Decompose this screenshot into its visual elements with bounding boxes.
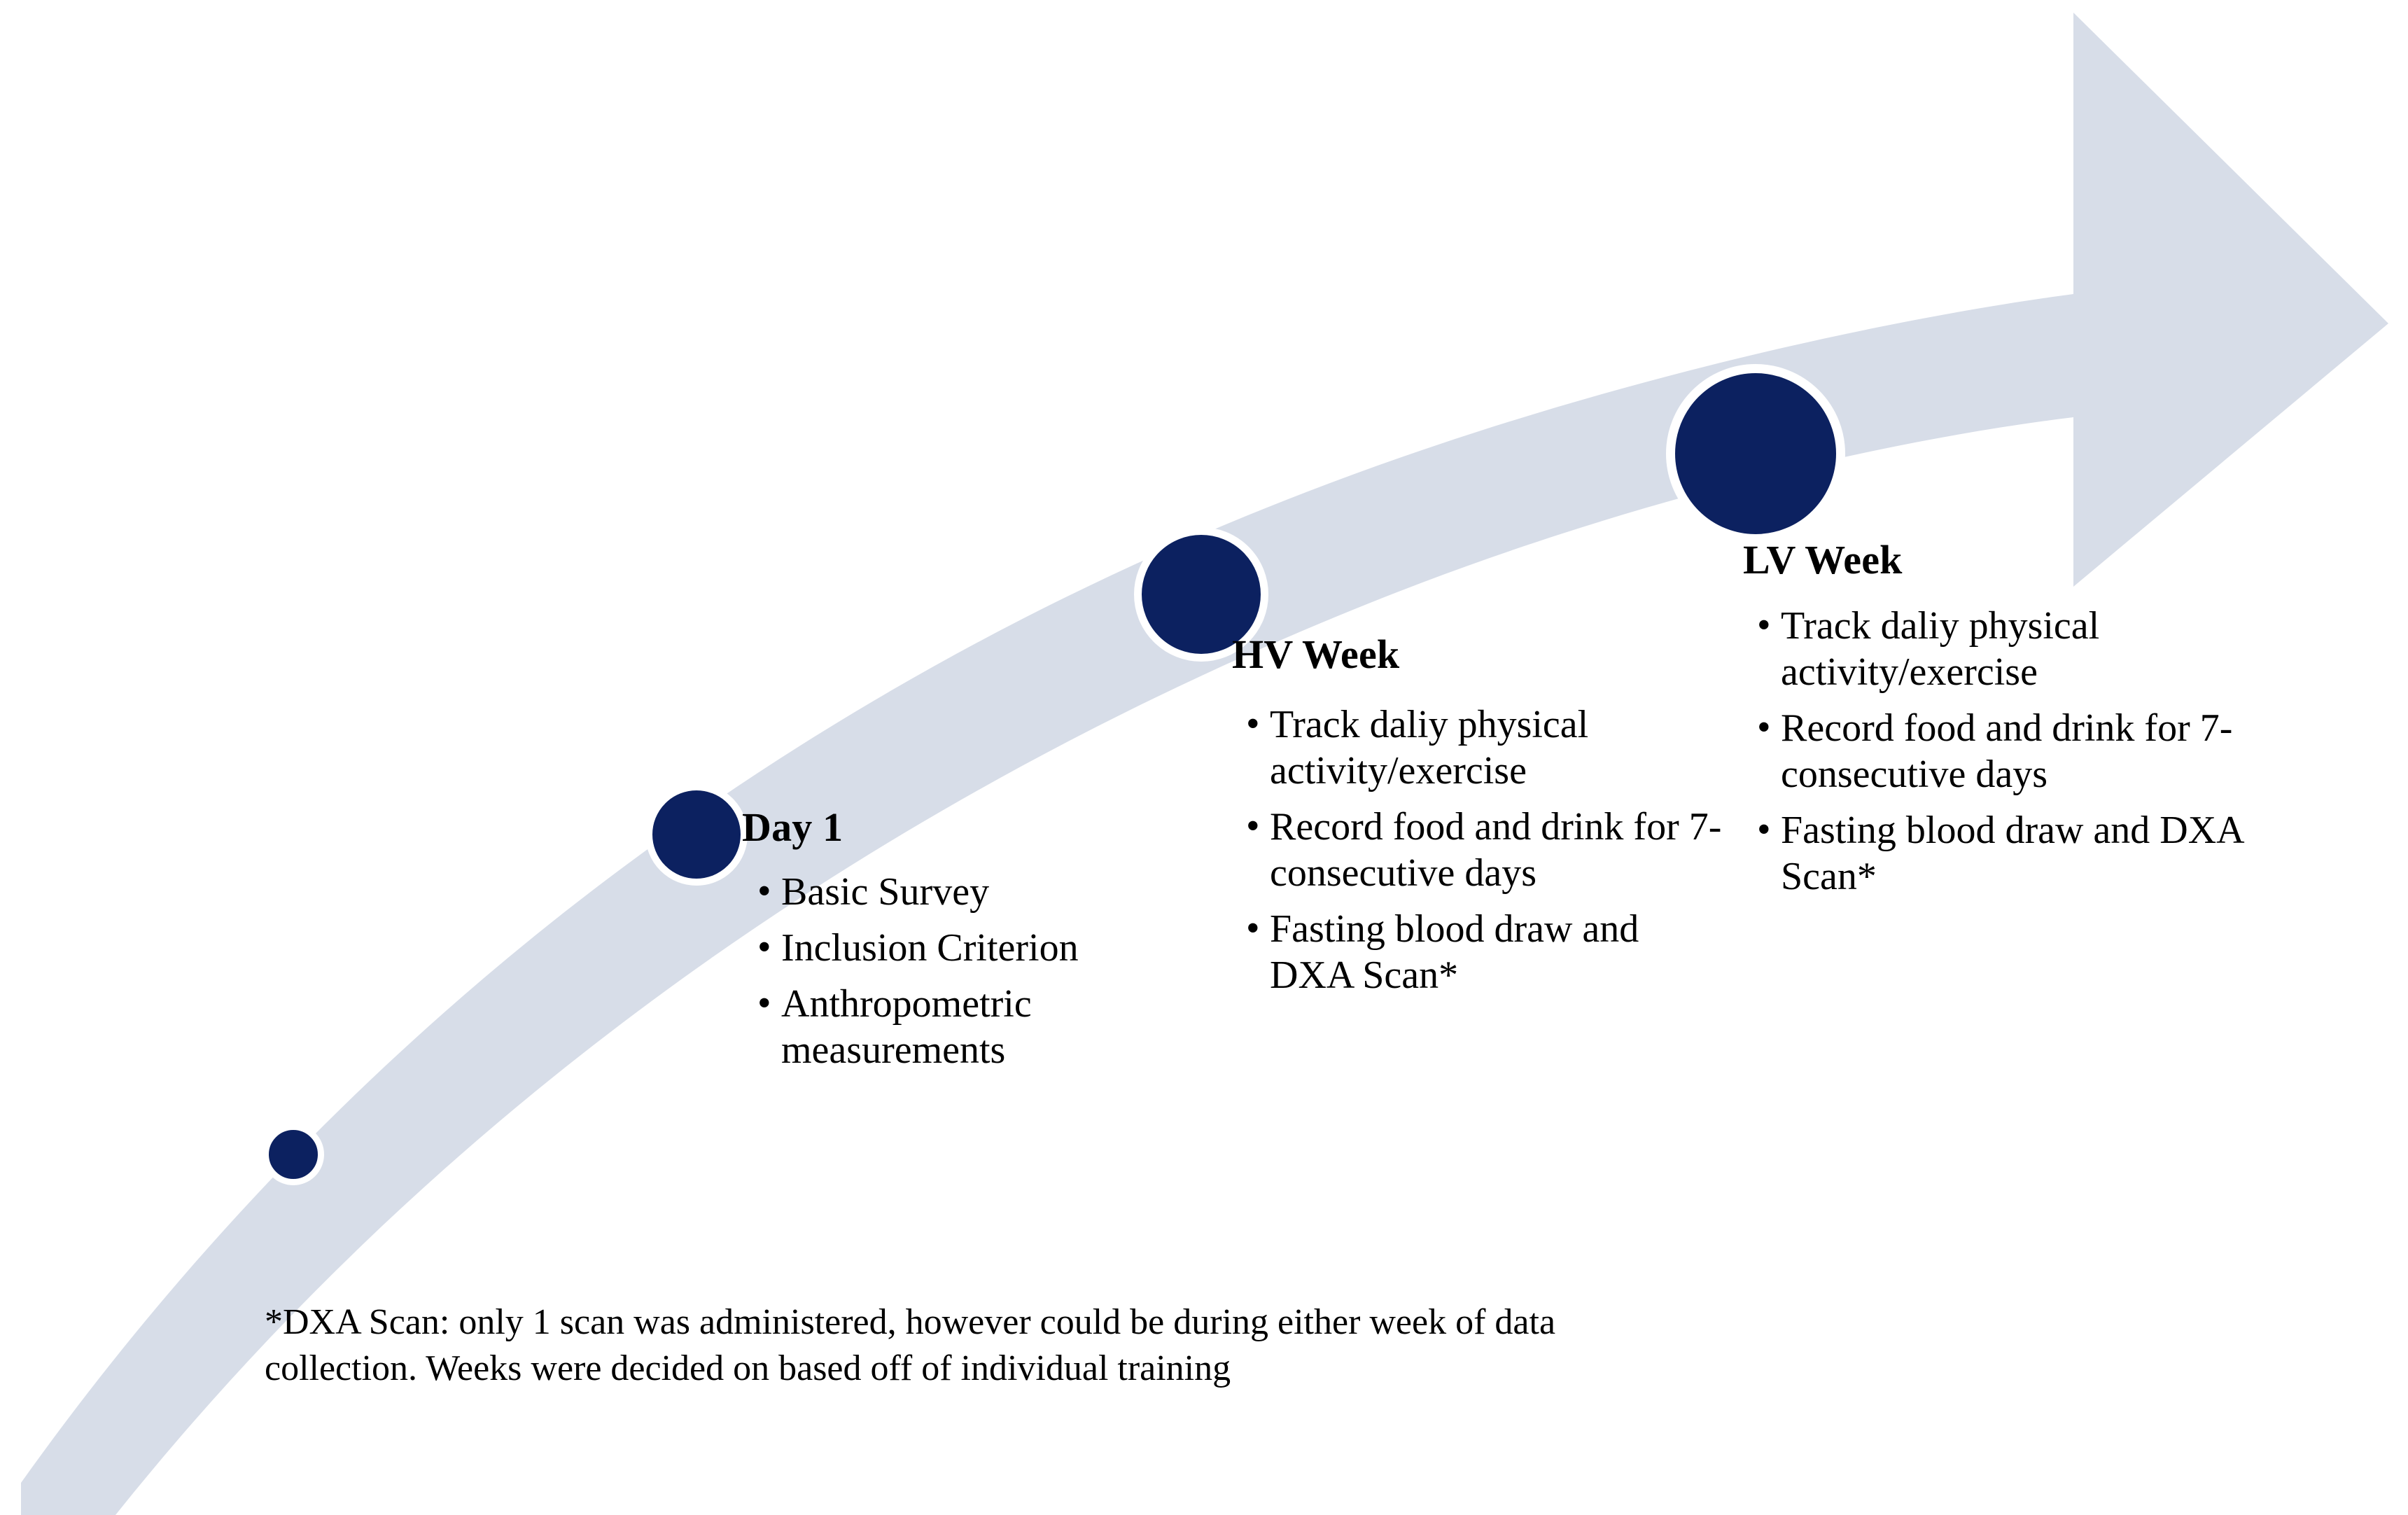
list-item: Record food and drink for 7-consecutive … — [1757, 705, 2289, 797]
stage-hv-week: HV Week Track daliy physical activity/ex… — [1232, 634, 1722, 998]
list-item: Basic Survey — [757, 869, 1176, 915]
list-item: Track daliy physical activity/exercise — [1757, 603, 2289, 695]
list-item: Track daliy physical activity/exercise — [1246, 701, 1722, 794]
stage-hv-week-bullets: Track daliy physical activity/exercise R… — [1232, 701, 1722, 998]
list-item: Record food and drink for 7-consecutive … — [1246, 804, 1722, 896]
list-item: Anthropometric measurements — [757, 981, 1176, 1073]
stage-lv-week-bullets: Track daliy physical activity/exercise R… — [1743, 603, 2289, 900]
milestone-node-start — [262, 1124, 324, 1185]
list-item: Fasting blood draw and DXA Scan* — [1246, 906, 1722, 998]
stage-lv-week: LV Week Track daliy physical activity/ex… — [1743, 539, 2289, 900]
stage-day1-bullets: Basic Survey Inclusion Criterion Anthrop… — [742, 869, 1176, 1073]
milestone-node-day1 — [645, 783, 748, 886]
stage-hv-week-title: HV Week — [1232, 634, 1722, 676]
stage-day1: Day 1 Basic Survey Inclusion Criterion A… — [742, 807, 1176, 1073]
list-item: Fasting blood draw and DXA Scan* — [1757, 807, 2289, 900]
milestone-node-lv-week — [1666, 364, 1845, 543]
stage-day1-title: Day 1 — [742, 807, 1176, 849]
list-item: Inclusion Criterion — [757, 925, 1176, 971]
stage-lv-week-title: LV Week — [1743, 539, 2289, 582]
footnote-dxa-scan: *DXA Scan: only 1 scan was administered,… — [265, 1299, 1581, 1391]
timeline-diagram: Day 1 Basic Survey Inclusion Criterion A… — [0, 0, 2408, 1515]
